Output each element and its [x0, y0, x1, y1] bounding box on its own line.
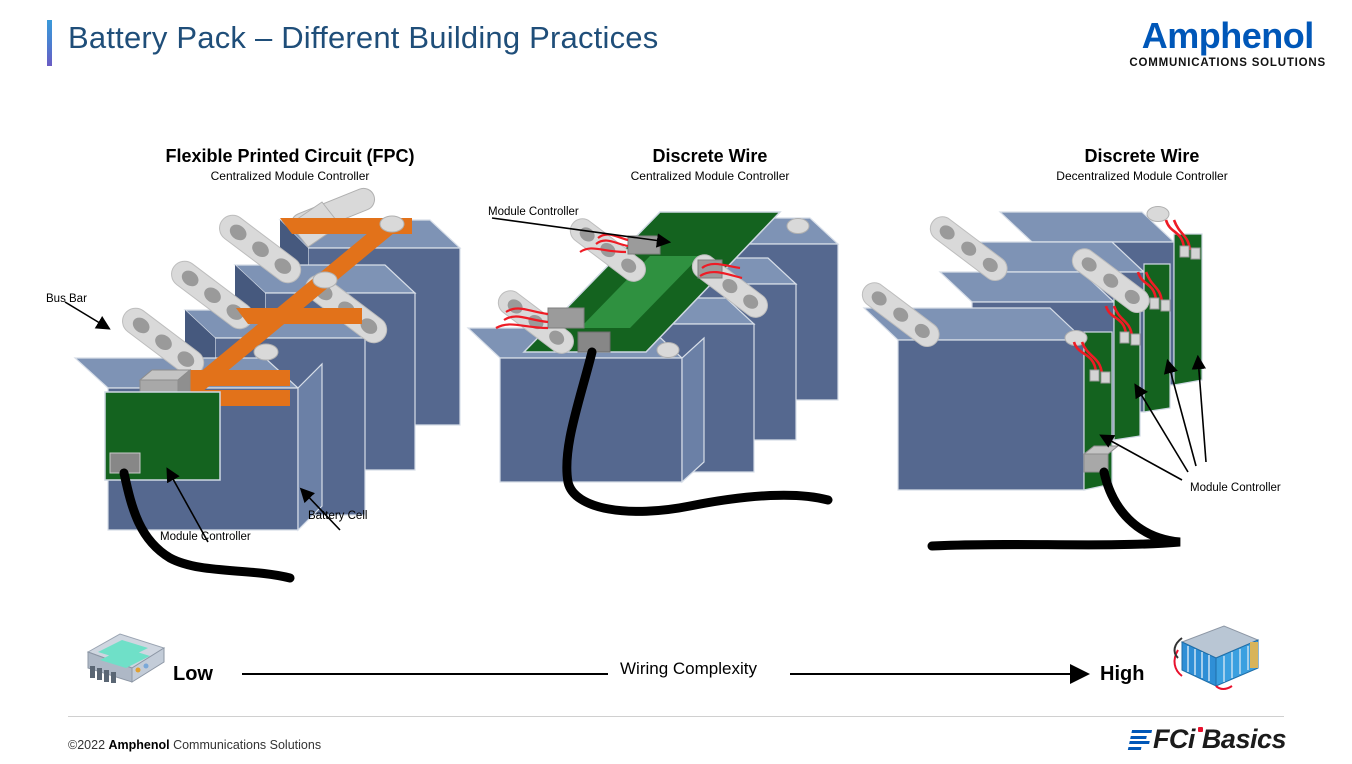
complex-battery-module-thumbnail	[1168, 620, 1264, 692]
fci-dot-accent	[1198, 727, 1203, 732]
callout-label-module-controller: Module Controller	[1190, 482, 1281, 494]
brand-name: Amphenol	[1129, 18, 1326, 54]
footer-copyright: ©2022 Amphenol Communications Solutions	[68, 738, 321, 752]
column-heading-discrete-centralized: Discrete Wire Centralized Module Control…	[560, 146, 860, 183]
connector-block	[1084, 446, 1118, 472]
discrete-wire-decentralized-illustration	[850, 190, 1270, 530]
pcb-cell-2	[1114, 294, 1140, 440]
amphenol-logo: Amphenol COMMUNICATIONS SOLUTIONS	[1129, 18, 1326, 69]
scale-label-low: Low	[173, 663, 213, 686]
callout-label-bus-bar: Bus Bar	[46, 293, 87, 305]
scale-line-left	[242, 668, 612, 680]
column-heading-title: Discrete Wire	[560, 146, 860, 167]
fci-bars-icon	[1128, 730, 1152, 750]
scale-label-high: High	[1100, 663, 1144, 686]
diagram-fpc: Bus Bar Module Controller Battery Cell	[40, 190, 460, 600]
page-title: Battery Pack – Different Building Practi…	[68, 20, 658, 56]
callout-label-module-controller: Module Controller	[160, 531, 251, 543]
discrete-wire-centralized-illustration	[450, 200, 850, 530]
module-controller-pcb	[105, 392, 220, 480]
footer-copyright-year: ©2022	[68, 738, 109, 752]
footer-divider	[68, 716, 1284, 717]
diagram-discrete-wire-centralized: Module Controller	[450, 200, 850, 530]
fci-basics-logo: FCi Basics	[1130, 726, 1286, 753]
column-heading-subtitle: Centralized Module Controller	[140, 169, 440, 183]
callout-label-module-controller: Module Controller	[488, 206, 579, 218]
column-heading-discrete-decentralized: Discrete Wire Decentralized Module Contr…	[992, 146, 1292, 183]
column-heading-subtitle: Decentralized Module Controller	[992, 169, 1292, 183]
battery-cell-front-1	[864, 308, 1084, 490]
column-heading-title: Flexible Printed Circuit (FPC)	[140, 146, 440, 167]
footer-company-rest: Communications Solutions	[170, 738, 321, 752]
scale-axis-label: Wiring Complexity	[620, 659, 757, 679]
footer-company-bold: Amphenol	[109, 738, 170, 752]
simple-connector-module-thumbnail	[78, 626, 170, 688]
diagram-discrete-wire-decentralized: Module Controller	[850, 190, 1270, 530]
fci-logo-text: FCi Basics	[1153, 726, 1286, 753]
title-accent-bar	[47, 20, 52, 66]
column-heading-fpc: Flexible Printed Circuit (FPC) Centraliz…	[140, 146, 440, 183]
slide-root: Battery Pack – Different Building Practi…	[0, 0, 1352, 764]
callout-label-battery-cell: Battery Cell	[308, 510, 367, 522]
brand-tagline: COMMUNICATIONS SOLUTIONS	[1129, 57, 1326, 69]
column-heading-subtitle: Centralized Module Controller	[560, 169, 860, 183]
scale-line-right-arrow	[790, 668, 1100, 682]
column-heading-title: Discrete Wire	[992, 146, 1292, 167]
